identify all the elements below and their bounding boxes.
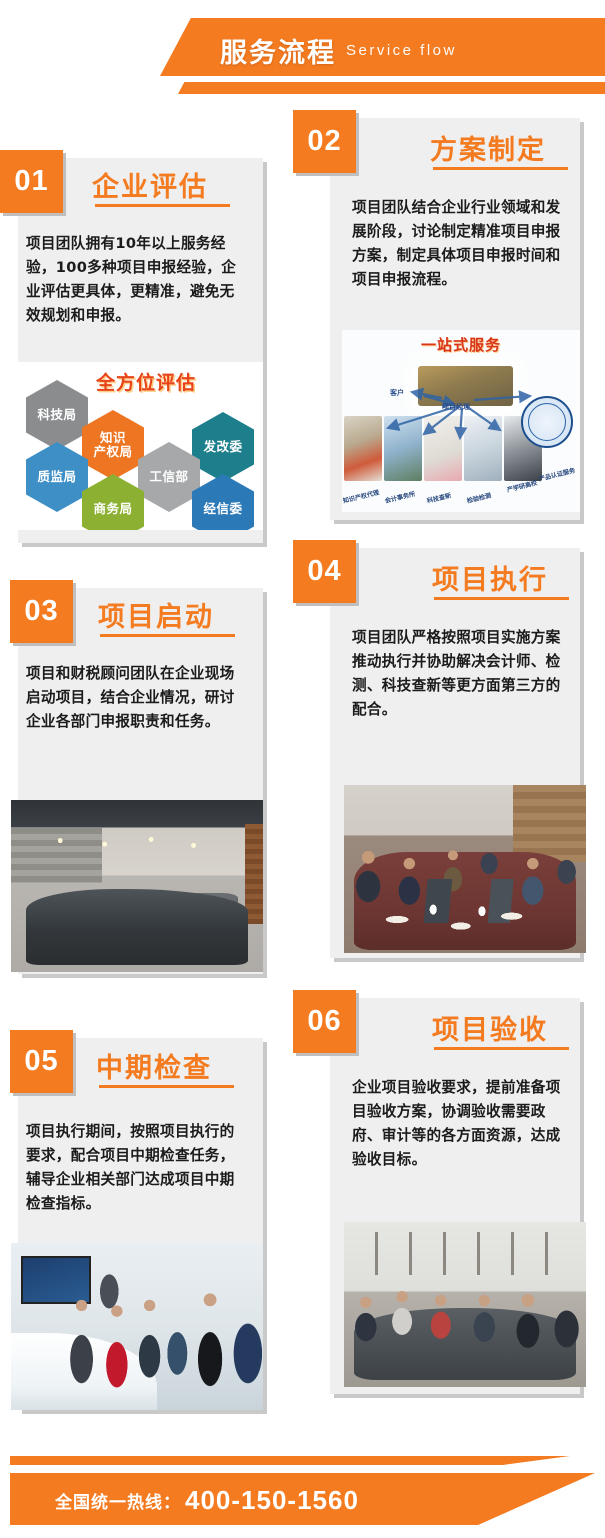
hex-node-keji-ju: 科技局	[26, 380, 88, 450]
card-04-photo-meeting-table	[344, 785, 586, 953]
hex-label: 工信部	[149, 470, 188, 484]
hotline-number[interactable]: 400-150-1560	[185, 1485, 359, 1516]
hex-node-gongxin-bu: 工信部	[138, 442, 200, 512]
hex-label: 发改委	[203, 440, 242, 454]
card-03-number-badge: 03	[10, 580, 73, 643]
visiting-group	[11, 1266, 263, 1406]
card-05-photo-lobby-visit	[11, 1243, 263, 1410]
flow-node-customer: 客户	[390, 388, 404, 398]
header-orange-accent-stripe	[178, 82, 605, 94]
page-title: 服务流程	[220, 31, 336, 70]
card-02-title: 方案制定	[430, 128, 546, 167]
card-06-title-rule	[434, 1047, 569, 1050]
card-03-title: 项目启动	[98, 595, 214, 634]
hexagon-diagram: 全方位评估 科技局 知识 产权局 发改委 质监局 工信部 商务局 经信委	[18, 362, 263, 530]
card-01-number-badge: 01	[0, 150, 63, 213]
card-06-title: 项目验收	[432, 1008, 548, 1047]
footer-hotline-group: 全国统一热线： 400-150-1560	[55, 1480, 359, 1520]
card-05-title-rule	[99, 1085, 234, 1088]
hex-node-zhishi-chanquan-ju: 知识 产权局	[82, 410, 144, 480]
hex-node-shangwu-ju: 商务局	[82, 474, 144, 530]
card-06-number-badge: 06	[293, 990, 356, 1053]
card-03-title-rule	[100, 634, 235, 637]
card-01-title-rule	[95, 204, 230, 207]
hex-label: 商务局	[93, 502, 132, 516]
hotline-label: 全国统一热线：	[55, 1488, 181, 1513]
conference-table	[82, 893, 238, 945]
card-01-title: 企业评估	[92, 165, 208, 204]
card-05-title: 中期检查	[96, 1046, 212, 1085]
card-05-number-badge: 05	[10, 1030, 73, 1093]
hexagon-diagram-heading: 全方位评估	[96, 368, 196, 395]
page-subtitle: Service flow	[346, 42, 457, 59]
page-footer: 全国统一热线： 400-150-1560	[0, 1418, 605, 1538]
card-04-title: 项目执行	[432, 558, 548, 597]
card-05-description: 项目执行期间，按照项目执行的要求，配合项目中期检查任务，辅导企业相关部门达成项目…	[26, 1120, 244, 1216]
hex-label: 质监局	[37, 470, 76, 484]
header-title-group: 服务流程 Service flow	[220, 28, 600, 72]
hex-node-fagai-wei: 发改委	[192, 412, 254, 482]
card-04-description: 项目团队严格按照项目实施方案推动执行并协助解决会计师、检测、科技查新等更方面第三…	[352, 626, 570, 722]
card-02-description: 项目团队结合企业行业领域和发展阶段，讨论制定精准项目申报方案，制定具体项目申报时…	[352, 196, 570, 292]
one-stop-service-diagram: 一站式服务 客户 项目经理	[342, 330, 580, 512]
hex-label: 知识 产权局	[93, 431, 132, 459]
flow-diagram-title: 一站式服务	[342, 334, 580, 355]
card-06-photo-boardroom	[344, 1222, 586, 1387]
card-02-number-badge: 02	[293, 110, 356, 173]
card-02-title-rule	[433, 167, 568, 170]
ceiling-lights	[36, 831, 238, 855]
hex-node-zhijian-ju: 质监局	[26, 442, 88, 512]
infographic-page: 服务流程 Service flow 01 企业评估 项目团队拥有10年以上服务经…	[0, 0, 605, 1538]
card-01-description: 项目团队拥有10年以上服务经验，100多种项目申报经验，企业评估更具体，更精准，…	[26, 232, 244, 328]
documents-on-table	[359, 903, 572, 937]
card-06-description: 企业项目验收要求，提前准备项目验收方案，协调验收需要政府、审计等的各方面资源，达…	[352, 1076, 570, 1172]
flow-node-manager: 项目经理	[442, 402, 470, 412]
footer-accent-stripe	[10, 1456, 570, 1465]
hex-label: 科技局	[37, 408, 76, 422]
flow-certification-seal	[521, 396, 573, 448]
boardroom-attendees	[344, 1272, 586, 1368]
hex-node-jingxin-wei: 经信委	[192, 474, 254, 530]
hex-label: 经信委	[203, 502, 242, 516]
page-header: 服务流程 Service flow	[0, 0, 605, 110]
card-03-description: 项目和财税顾问团队在企业现场启动项目，结合企业情况，研讨企业各部门申报职责和任务…	[26, 662, 244, 734]
wood-wall-panel	[245, 824, 263, 924]
card-04-number-badge: 04	[293, 540, 356, 603]
card-03-photo-conference-room	[11, 800, 263, 972]
card-04-title-rule	[434, 597, 569, 600]
